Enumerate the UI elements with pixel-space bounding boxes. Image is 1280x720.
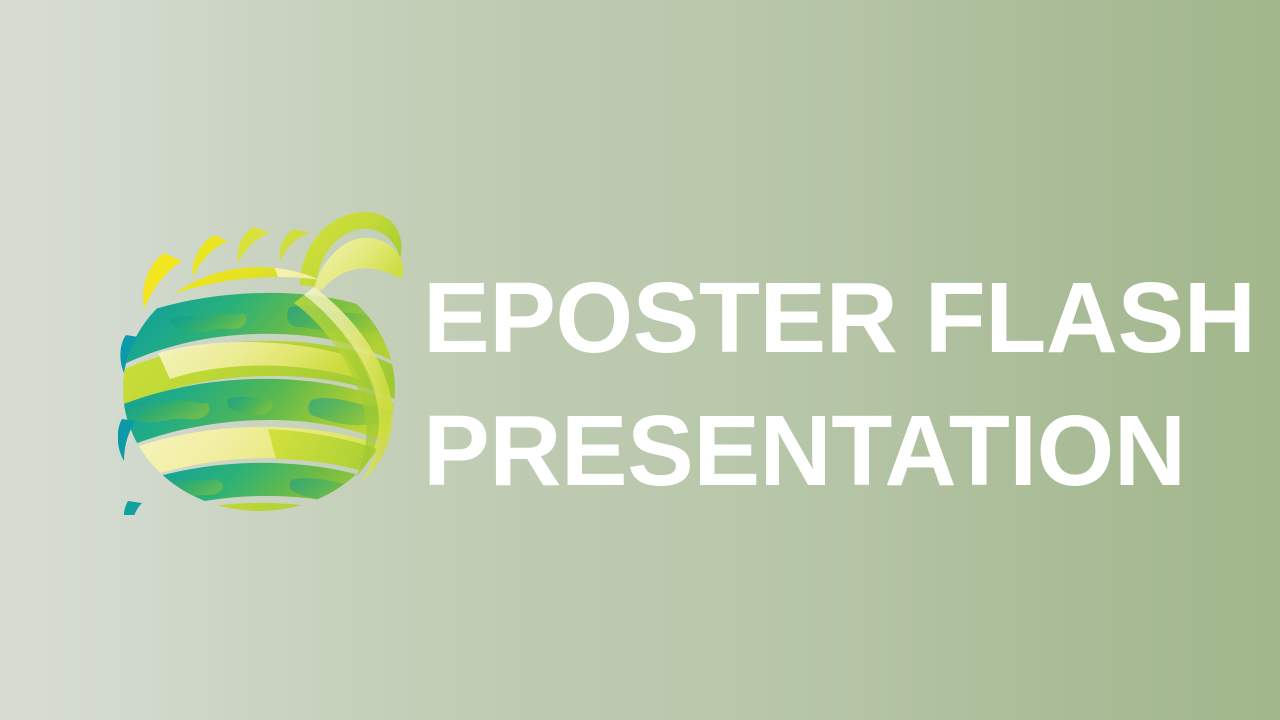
page-title: EPOSTER FLASH PRESENTATION <box>423 252 1223 518</box>
slide-canvas: EPOSTER FLASH PRESENTATION <box>0 0 1280 720</box>
title-line-2: PRESENTATION <box>423 385 1223 518</box>
title-line-1: EPOSTER FLASH <box>423 252 1223 385</box>
globe-ribbon-logo <box>118 203 406 515</box>
